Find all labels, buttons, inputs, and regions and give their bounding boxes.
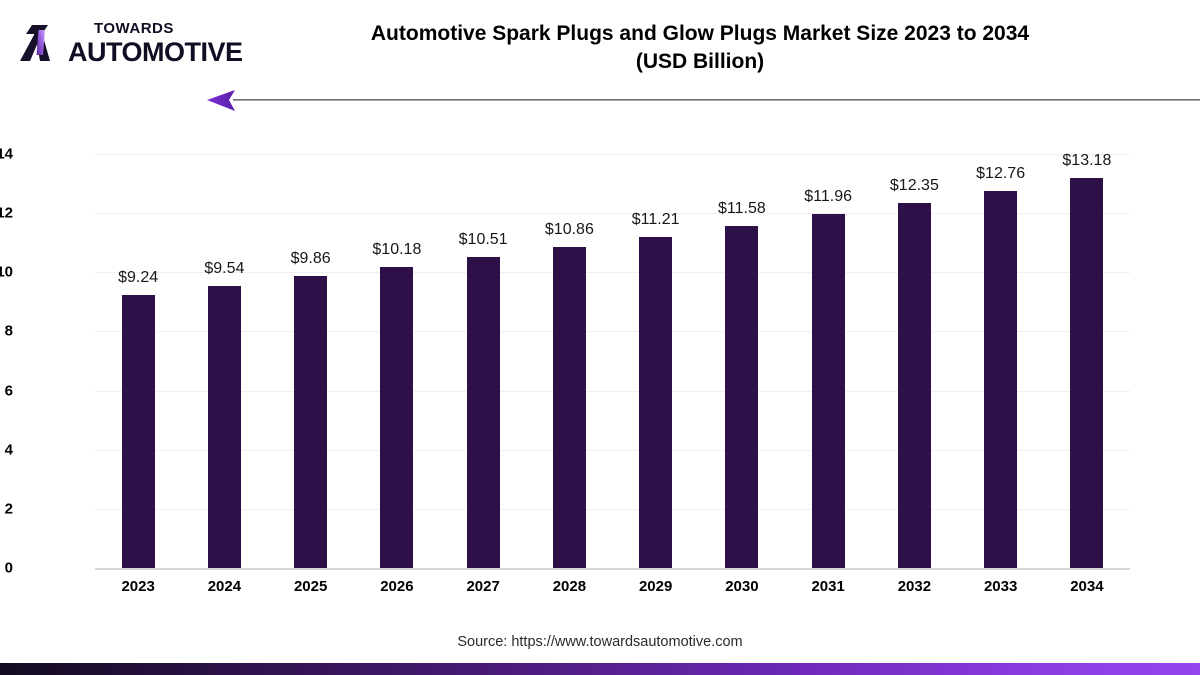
bar-slot: $9.86 [268, 154, 354, 568]
y-axis-tick-label: 10 [0, 264, 13, 281]
left-arrow-rule-icon [205, 88, 1200, 112]
bar-slot: $11.58 [699, 154, 785, 568]
bar[interactable] [380, 267, 413, 568]
x-axis-baseline [95, 568, 1130, 570]
bar[interactable] [639, 237, 672, 568]
chart-title: Automotive Spark Plugs and Glow Plugs Ma… [230, 20, 1170, 75]
bar[interactable] [984, 191, 1017, 568]
bar[interactable] [208, 286, 241, 568]
x-axis-tick-label: 2025 [268, 578, 354, 595]
bar[interactable] [122, 295, 155, 568]
chart-title-line-1: Automotive Spark Plugs and Glow Plugs Ma… [230, 20, 1170, 48]
y-axis-tick-label: 6 [0, 382, 13, 399]
brand-logo-bottom: AUTOMOTIVE [68, 39, 243, 66]
bar[interactable] [467, 257, 500, 568]
bar-value-label: $12.35 [890, 177, 939, 195]
bar-value-label: $9.24 [118, 269, 158, 287]
bottom-accent-bar [0, 663, 1200, 675]
x-axis-tick-label: 2031 [785, 578, 871, 595]
bar-slot: $9.54 [181, 154, 267, 568]
x-axis-tick-label: 2028 [526, 578, 612, 595]
x-axis-tick-label: 2029 [613, 578, 699, 595]
bar-chart: 02468101214 $9.24$9.54$9.86$10.18$10.51$… [0, 120, 1200, 610]
bar-value-label: $9.86 [291, 250, 331, 268]
x-axis-tick-label: 2026 [354, 578, 440, 595]
x-axis-tick-label: 2030 [699, 578, 785, 595]
bar[interactable] [812, 214, 845, 568]
bar[interactable] [725, 226, 758, 568]
y-axis-tick-label: 14 [0, 146, 13, 163]
bar-value-label: $11.58 [718, 200, 766, 218]
bar-value-label: $12.76 [976, 165, 1025, 183]
bar-slot: $10.18 [354, 154, 440, 568]
bar-series: $9.24$9.54$9.86$10.18$10.51$10.86$11.21$… [95, 154, 1130, 568]
bar-slot: $11.21 [613, 154, 699, 568]
y-axis-tick-label: 12 [0, 205, 13, 222]
brand-logo: TOWARDS AUTOMOTIVE [18, 18, 218, 68]
bar-slot: $12.35 [871, 154, 957, 568]
bar-value-label: $10.51 [459, 231, 508, 249]
bar-slot: $12.76 [958, 154, 1044, 568]
y-axis-tick-label: 0 [0, 560, 13, 577]
towards-automotive-a-mark-icon [18, 21, 62, 65]
x-axis-tick-label: 2027 [440, 578, 526, 595]
bar-value-label: $11.21 [632, 211, 680, 229]
bar-slot: $10.86 [526, 154, 612, 568]
bar-slot: $9.24 [95, 154, 181, 568]
y-axis-tick-label: 8 [0, 323, 13, 340]
x-axis-tick-label: 2024 [181, 578, 267, 595]
x-axis-tick-label: 2023 [95, 578, 181, 595]
bar[interactable] [553, 247, 586, 568]
bar-slot: $11.96 [785, 154, 871, 568]
bar-value-label: $10.18 [372, 241, 421, 259]
x-axis-tick-label: 2034 [1044, 578, 1130, 595]
bar-value-label: $11.96 [804, 188, 852, 206]
source-text: Source: https://www.towardsautomotive.co… [0, 634, 1200, 650]
x-axis-tick-label: 2033 [958, 578, 1044, 595]
bar[interactable] [294, 276, 327, 568]
y-axis-tick-label: 2 [0, 500, 13, 517]
bar-slot: $10.51 [440, 154, 526, 568]
y-axis-tick-label: 4 [0, 441, 13, 458]
bar-value-label: $10.86 [545, 221, 594, 239]
chart-page: TOWARDS AUTOMOTIVE Automotive Spark Plug… [0, 0, 1200, 675]
bar-value-label: $13.18 [1062, 152, 1111, 170]
brand-logo-text: TOWARDS AUTOMOTIVE [68, 21, 243, 66]
chart-title-line-2: (USD Billion) [230, 48, 1170, 76]
bar[interactable] [898, 203, 931, 568]
bar-value-label: $9.54 [204, 260, 244, 278]
brand-logo-top: TOWARDS [94, 21, 243, 36]
bar-slot: $13.18 [1044, 154, 1130, 568]
bar[interactable] [1070, 178, 1103, 568]
x-axis-tick-label: 2032 [871, 578, 957, 595]
